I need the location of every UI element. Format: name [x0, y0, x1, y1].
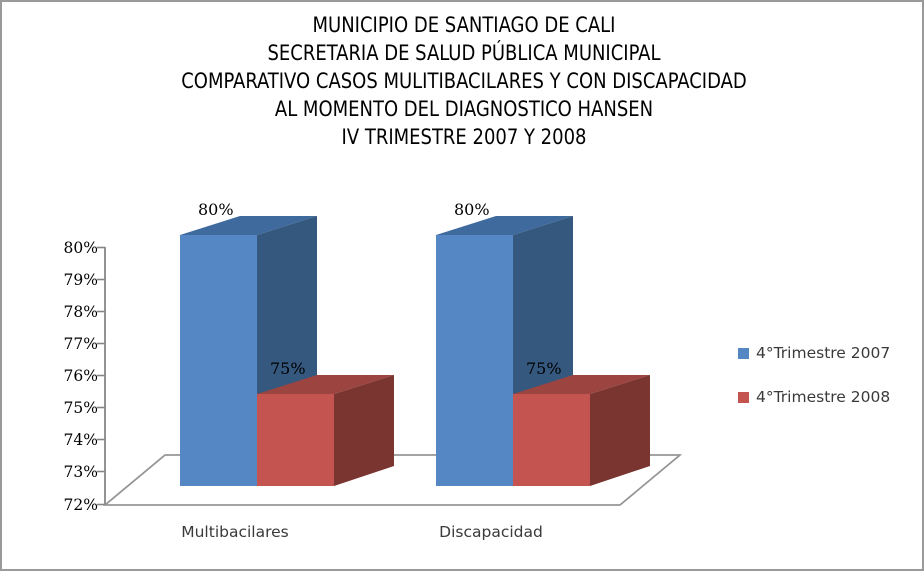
y-axis-tick-labels: 80% 79% 78% 77% 76% 75% 74% 73% 72%	[36, 2, 98, 571]
chart-title-line-3: COMPARATIVO CASOS MULITIBACILARES Y CON …	[34, 68, 893, 96]
y-tick-label: 72%	[36, 497, 98, 513]
bar-2007-discapacidad[interactable]	[436, 216, 573, 486]
chart-title-line-2: SECRETARIA DE SALUD PÚBLICA MUNICIPAL	[34, 40, 893, 68]
data-label-2008-discapacidad: 75%	[526, 359, 562, 378]
chart-floor	[105, 455, 680, 505]
data-label-2007-multibacilares: 80%	[198, 200, 234, 219]
chart-legend: 4°Trimestre 2007 4°Trimestre 2008	[738, 342, 918, 430]
y-tick-label: 76%	[36, 368, 98, 384]
y-tick-label: 79%	[36, 272, 98, 288]
y-tick-label: 78%	[36, 304, 98, 320]
legend-item-2008[interactable]: 4°Trimestre 2008	[738, 386, 918, 408]
bar-2007-multibacilares[interactable]	[180, 216, 317, 486]
category-label-discapacidad: Discapacidad	[391, 523, 591, 541]
legend-item-2007[interactable]: 4°Trimestre 2007	[738, 342, 918, 364]
legend-swatch-2008-icon	[738, 392, 749, 403]
y-tick-label: 75%	[36, 400, 98, 416]
bar-2008-multibacilares[interactable]	[257, 375, 394, 486]
y-tick-label: 77%	[36, 336, 98, 352]
y-axis	[97, 247, 105, 505]
legend-label-2007: 4°Trimestre 2007	[756, 344, 890, 362]
chart-container: MUNICIPIO DE SANTIAGO DE CALI SECRETARIA…	[0, 0, 924, 571]
y-tick-label: 73%	[36, 464, 98, 480]
y-tick-label: 74%	[36, 432, 98, 448]
data-label-2008-multibacilares: 75%	[270, 359, 306, 378]
legend-label-2008: 4°Trimestre 2008	[756, 388, 890, 406]
chart-title-line-4: AL MOMENTO DEL DIAGNOSTICO HANSEN	[34, 96, 893, 124]
y-tick-label: 80%	[36, 240, 98, 256]
legend-swatch-2007-icon	[738, 348, 749, 359]
chart-title-line-5: IV TRIMESTRE 2007 Y 2008	[34, 124, 893, 152]
chart-title: MUNICIPIO DE SANTIAGO DE CALI SECRETARIA…	[2, 12, 924, 152]
bar-2008-discapacidad[interactable]	[513, 375, 650, 486]
chart-title-line-1: MUNICIPIO DE SANTIAGO DE CALI	[34, 12, 893, 40]
data-label-2007-discapacidad: 80%	[454, 200, 490, 219]
category-label-multibacilares: Multibacilares	[135, 523, 335, 541]
floor-front-edge	[105, 455, 680, 505]
